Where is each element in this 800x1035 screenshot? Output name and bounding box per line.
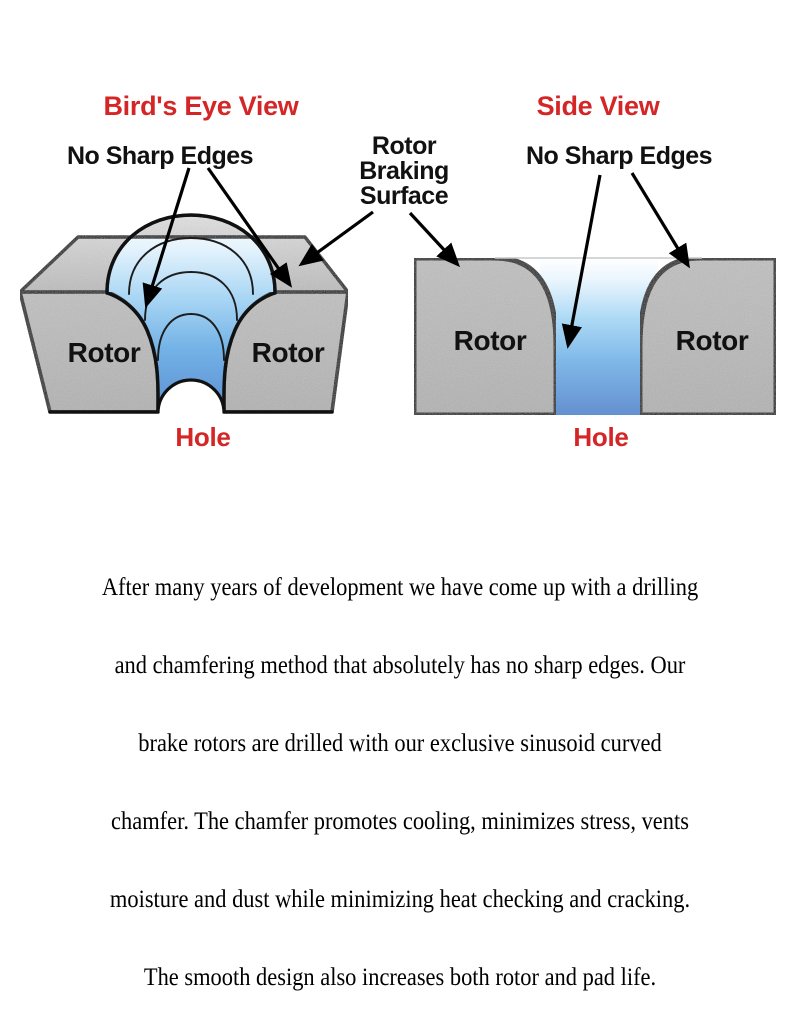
description-paragraph: After many years of development we have … xyxy=(48,528,752,1035)
paragraph-line-6: The smooth design also increases both ro… xyxy=(48,957,752,996)
arrow-braking-surface-left xyxy=(314,212,373,255)
paragraph-line-5: moisture and dust while minimizing heat … xyxy=(48,879,752,918)
arrow-no-sharp-edges-right-sv xyxy=(632,173,680,252)
paragraph-line-2: and chamfering method that absolutely ha… xyxy=(48,645,752,684)
side-view-rotor-right-label: Rotor xyxy=(676,325,749,356)
birds-eye-hole-label: Hole xyxy=(175,422,230,452)
birds-eye-block xyxy=(20,215,348,413)
birds-eye-no-sharp-edges-label: No Sharp Edges xyxy=(67,142,253,170)
paragraph-line-4: chamfer. The chamfer promotes cooling, m… xyxy=(48,801,752,840)
paragraph-line-1: After many years of development we have … xyxy=(48,567,752,606)
birds-eye-title: Bird's Eye View xyxy=(103,91,299,121)
paragraph-line-3: brake rotors are drilled with our exclus… xyxy=(48,723,752,762)
side-view-rotor-left-label: Rotor xyxy=(454,325,527,356)
birds-eye-rotor-left-label: Rotor xyxy=(68,337,141,368)
side-view-hole-label: Hole xyxy=(573,422,628,452)
braking-surface-label-line2: Braking xyxy=(359,157,449,185)
braking-surface-label-line1: Rotor xyxy=(372,132,437,160)
diagram-page: Bird's Eye View No Sharp Edges Rotor Bra… xyxy=(0,0,800,800)
arrow-braking-surface-right xyxy=(410,213,447,253)
side-view-no-sharp-edges-label: No Sharp Edges xyxy=(526,142,712,170)
braking-surface-label-line3: Surface xyxy=(360,182,449,210)
birds-eye-rotor-right-label: Rotor xyxy=(252,337,325,368)
side-view-title: Side View xyxy=(537,91,661,121)
